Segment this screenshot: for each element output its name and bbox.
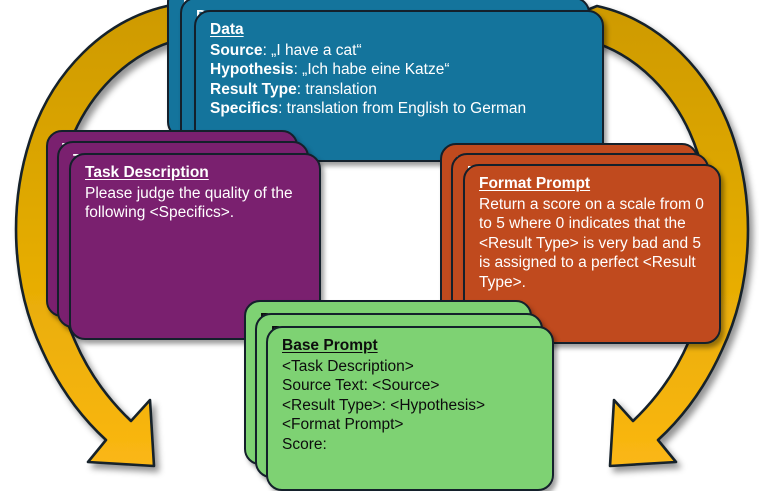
- data-line-source-value: : „I have a cat“: [263, 42, 362, 59]
- base-prompt-line-task-description: <Task Description>: [282, 357, 540, 377]
- base-prompt-card-front[interactable]: Base Prompt <Task Description> Source Te…: [266, 326, 554, 491]
- base-prompt-card-body: Base Prompt <Task Description> Source Te…: [268, 328, 552, 464]
- data-line-source: Source: „I have a cat“: [210, 41, 590, 61]
- base-prompt-card-stack: Base Prompt Base Prompt Base Prompt <Tas…: [244, 300, 554, 480]
- task-description-card-stack: Task Description Task Description Task D…: [46, 130, 346, 320]
- task-description-text: Please judge the quality of the followin…: [85, 184, 307, 223]
- format-prompt-card-title: Format Prompt: [479, 174, 707, 194]
- base-prompt-line-source-text: Source Text: <Source>: [282, 376, 540, 396]
- data-card-title: Data: [210, 20, 590, 40]
- data-line-source-label: Source: [210, 42, 263, 59]
- task-description-card-title: Task Description: [85, 163, 307, 183]
- data-card-stack: Data Data Data Source: „I have a cat“ Hy…: [167, 0, 607, 145]
- data-card-body: Data Source: „I have a cat“ Hypothesis: …: [196, 12, 602, 129]
- data-line-hypothesis-value: : „Ich habe eine Katze“: [294, 61, 450, 78]
- data-line-specifics: Specifics: translation from English to G…: [210, 99, 590, 119]
- data-line-result-type: Result Type: translation: [210, 80, 590, 100]
- diagram-canvas: Data Data Data Source: „I have a cat“ Hy…: [0, 0, 759, 481]
- data-line-specifics-label: Specifics: [210, 100, 278, 117]
- data-line-specifics-value: : translation from English to German: [278, 100, 526, 117]
- base-prompt-line-score: Score:: [282, 435, 540, 455]
- data-line-result-type-label: Result Type: [210, 81, 297, 98]
- task-description-card-body: Task Description Please judge the qualit…: [71, 155, 319, 233]
- format-prompt-card-body: Format Prompt Return a score on a scale …: [465, 166, 719, 302]
- base-prompt-line-result-type: <Result Type>: <Hypothesis>: [282, 396, 540, 416]
- base-prompt-line-format-prompt: <Format Prompt>: [282, 415, 540, 435]
- data-line-hypothesis-label: Hypothesis: [210, 61, 294, 78]
- base-prompt-card-title: Base Prompt: [282, 336, 540, 356]
- data-line-hypothesis: Hypothesis: „Ich habe eine Katze“: [210, 60, 590, 80]
- data-line-result-type-value: : translation: [297, 81, 377, 98]
- format-prompt-text: Return a score on a scale from 0 to 5 wh…: [479, 195, 707, 293]
